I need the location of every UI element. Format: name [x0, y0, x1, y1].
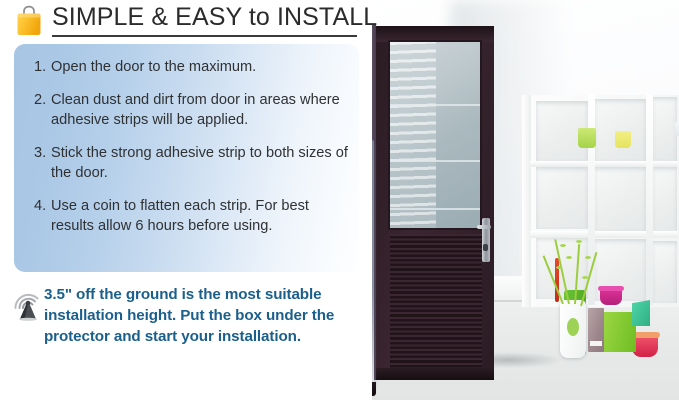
signal-tower-icon: [11, 286, 45, 322]
white-vase: [560, 300, 586, 358]
list-item: 2. Clean dust and dirt from door in area…: [34, 90, 349, 130]
installation-height-note: 3.5" off the ground is the most suitable…: [8, 284, 368, 354]
list-item: 1. Open the door to the maximum.: [34, 57, 349, 77]
door-lock: [483, 244, 488, 251]
promo-image: SIMPLE & EASY to INSTALL 1. Open the doo…: [0, 0, 679, 400]
steps-list: 1. Open the door to the maximum. 2. Clea…: [34, 57, 349, 236]
list-item: 4. Use a coin to flatten each strip. For…: [34, 196, 349, 236]
title-underline: [52, 35, 357, 37]
steps-panel: 1. Open the door to the maximum. 2. Clea…: [14, 44, 359, 272]
step-number: 4.: [34, 196, 51, 236]
note-text: 3.5" off the ground is the most suitable…: [44, 284, 370, 347]
page-title: SIMPLE & EASY to INSTALL: [52, 2, 362, 32]
shopping-bag-icon: [14, 5, 44, 36]
step-number: 2.: [34, 90, 51, 130]
step-text: Open the door to the maximum.: [51, 57, 349, 77]
shelving-unit: [522, 95, 679, 307]
small-glass: [675, 122, 679, 136]
step-text: Stick the strong adhesive strip to both …: [51, 143, 349, 183]
green-box: [602, 312, 636, 352]
header: SIMPLE & EASY to INSTALL: [8, 2, 360, 38]
teal-box: [632, 300, 650, 326]
list-item: 3. Stick the strong adhesive strip to bo…: [34, 143, 349, 183]
magenta-pot: [600, 288, 622, 305]
door-louver-panel: [390, 234, 482, 368]
product-photo: [330, 0, 679, 400]
step-number: 3.: [34, 143, 51, 183]
yellow-cup: [615, 131, 631, 148]
instruction-column: SIMPLE & EASY to INSTALL 1. Open the doo…: [0, 0, 372, 400]
step-text: Clean dust and dirt from door in areas w…: [51, 90, 349, 130]
step-number: 1.: [34, 57, 51, 77]
magazine-file: [588, 308, 604, 352]
green-cup: [578, 128, 596, 148]
step-text: Use a coin to flatten each strip. For be…: [51, 196, 349, 236]
